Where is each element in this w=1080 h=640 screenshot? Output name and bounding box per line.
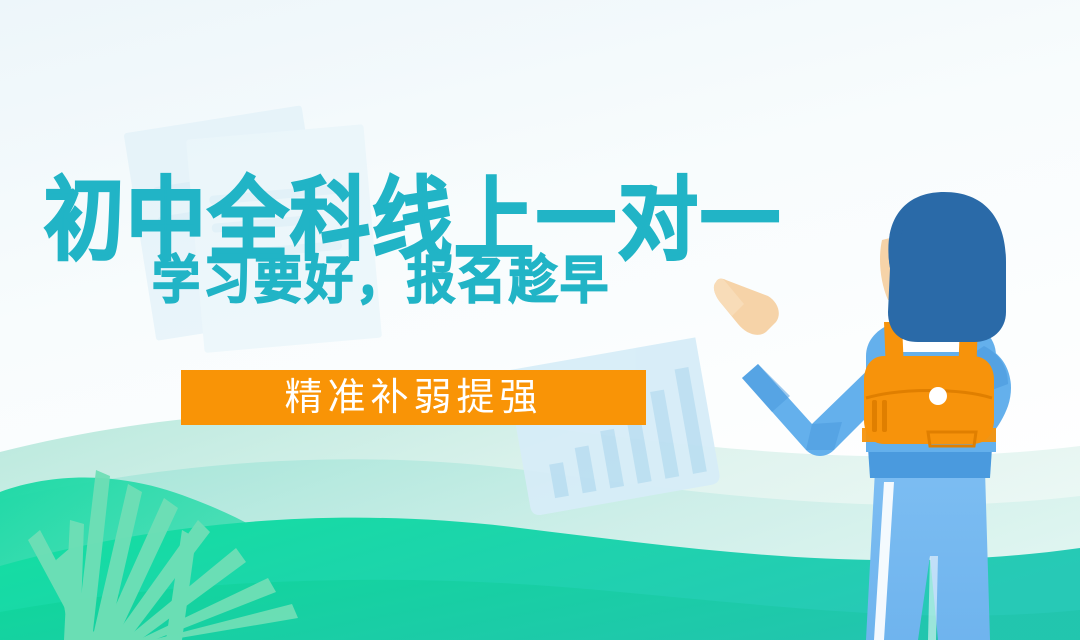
headline-block: 初中全科线上一对一 学习要好，报名趁早 — [0, 176, 800, 304]
backpack-button — [929, 387, 947, 405]
ribbon-label: 精准补弱提强 — [284, 379, 542, 417]
page-subtitle: 学习要好，报名趁早 — [0, 256, 800, 308]
promo-poster: 初中全科线上一对一 学习要好，报名趁早 精准补弱提强 — [0, 0, 1080, 640]
pants-stripe-inner — [928, 556, 938, 640]
student-illustration — [0, 0, 1080, 640]
jacket-hem — [868, 448, 992, 478]
highlight-ribbon: 精准补弱提强 — [181, 370, 646, 425]
